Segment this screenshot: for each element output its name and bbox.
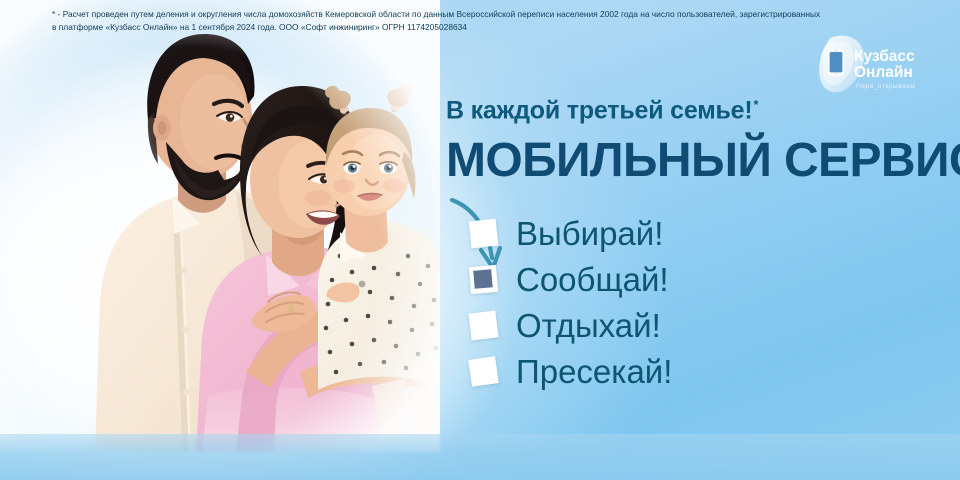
logo-line-1: Кузбасс <box>854 48 915 65</box>
checkbox-unchecked-icon[interactable] <box>468 310 498 340</box>
checkbox-unchecked-icon[interactable] <box>469 218 499 248</box>
advertisement-banner: Кузбасс Онлайн Пере_открываем В каждой т… <box>0 0 960 480</box>
headline: МОБИЛЬНЫЙ СЕРВИС <box>446 137 946 185</box>
smartphone-icon <box>828 49 844 76</box>
subheadline-text: В каждой третьей семье! <box>446 96 752 124</box>
disclaimer: * - Расчет проведен путем деления и окру… <box>52 8 932 33</box>
family-photo <box>0 0 440 452</box>
checkbox-checked-icon[interactable] <box>469 264 498 293</box>
logo-tagline: Пере_открываем <box>856 83 916 90</box>
list-item[interactable]: Отдыхай! <box>470 302 790 348</box>
list-item[interactable]: Пресекай! <box>470 348 790 394</box>
checkbox-unchecked-icon[interactable] <box>468 356 498 386</box>
logo-line-2: Онлайн <box>854 64 913 81</box>
benefits-list: Выбирай! Сообщай! Отдыхай! Пресекай! <box>470 210 790 394</box>
list-item[interactable]: Выбирай! <box>470 210 790 256</box>
list-item-label: Сообщай! <box>516 263 669 296</box>
subheadline: В каждой третьей семье!* <box>446 98 946 123</box>
disclaimer-line-1: * - Расчет проведен путем деления и окру… <box>52 8 932 21</box>
list-item-label: Пресекай! <box>516 355 672 388</box>
list-item-label: Отдыхай! <box>516 309 661 342</box>
kuzbass-online-logo[interactable]: Кузбасс Онлайн Пере_открываем <box>812 30 944 100</box>
copy-block: В каждой третьей семье!* МОБИЛЬНЫЙ СЕРВИ… <box>446 98 946 185</box>
footer-band <box>0 434 960 480</box>
disclaimer-line-2: в платформе «Кузбасс Онлайн» на 1 сентяб… <box>52 21 932 34</box>
list-item-label: Выбирай! <box>516 217 663 250</box>
list-item[interactable]: Сообщай! <box>470 256 790 302</box>
subheadline-asterisk: * <box>753 97 758 112</box>
